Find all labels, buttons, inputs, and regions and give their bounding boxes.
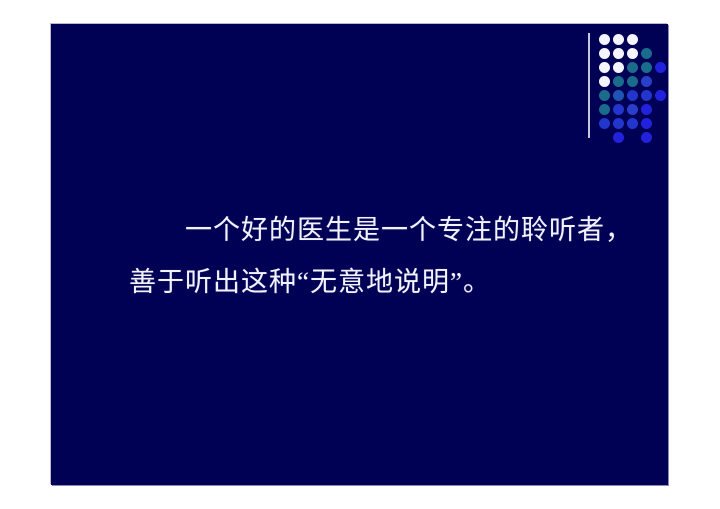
logo-dot bbox=[599, 34, 610, 45]
logo-dot bbox=[641, 104, 652, 115]
logo-dot bbox=[599, 48, 610, 59]
logo-dot bbox=[599, 118, 610, 129]
logo-dot bbox=[599, 62, 610, 73]
logo-dot bbox=[655, 62, 666, 73]
logo-dot bbox=[599, 104, 610, 115]
logo-dot bbox=[627, 118, 638, 129]
logo-dot bbox=[627, 90, 638, 101]
logo-vertical-rule bbox=[588, 33, 590, 138]
dot-grid-logo bbox=[585, 30, 665, 142]
logo-dot bbox=[627, 48, 638, 59]
logo-dot bbox=[613, 34, 624, 45]
logo-dot bbox=[613, 104, 624, 115]
logo-dot bbox=[641, 118, 652, 129]
logo-dot bbox=[599, 90, 610, 101]
logo-dot bbox=[613, 132, 624, 143]
logo-dot bbox=[627, 34, 638, 45]
logo-dot bbox=[613, 118, 624, 129]
logo-dot bbox=[641, 62, 652, 73]
logo-dot bbox=[641, 48, 652, 59]
logo-dot bbox=[613, 62, 624, 73]
slide-body-text: 一个好的医生是一个专注的聆听者，善于听出这种“无意地说明”。 bbox=[129, 204, 639, 308]
logo-dot bbox=[641, 90, 652, 101]
logo-dot bbox=[613, 76, 624, 87]
logo-dot bbox=[613, 48, 624, 59]
logo-dot bbox=[599, 76, 610, 87]
logo-dot bbox=[627, 76, 638, 87]
logo-dot bbox=[613, 90, 624, 101]
logo-dot bbox=[641, 76, 652, 87]
presentation-slide: 一个好的医生是一个专注的聆听者，善于听出这种“无意地说明”。 bbox=[51, 24, 668, 485]
slide-body: 一个好的医生是一个专注的聆听者，善于听出这种“无意地说明”。 bbox=[129, 204, 639, 308]
logo-dot bbox=[627, 104, 638, 115]
logo-dot-grid bbox=[597, 30, 665, 142]
logo-dot bbox=[627, 62, 638, 73]
logo-dot bbox=[655, 90, 666, 101]
logo-dot bbox=[641, 132, 652, 143]
screenshot-canvas: 一个好的医生是一个专注的聆听者，善于听出这种“无意地说明”。 bbox=[0, 0, 720, 509]
